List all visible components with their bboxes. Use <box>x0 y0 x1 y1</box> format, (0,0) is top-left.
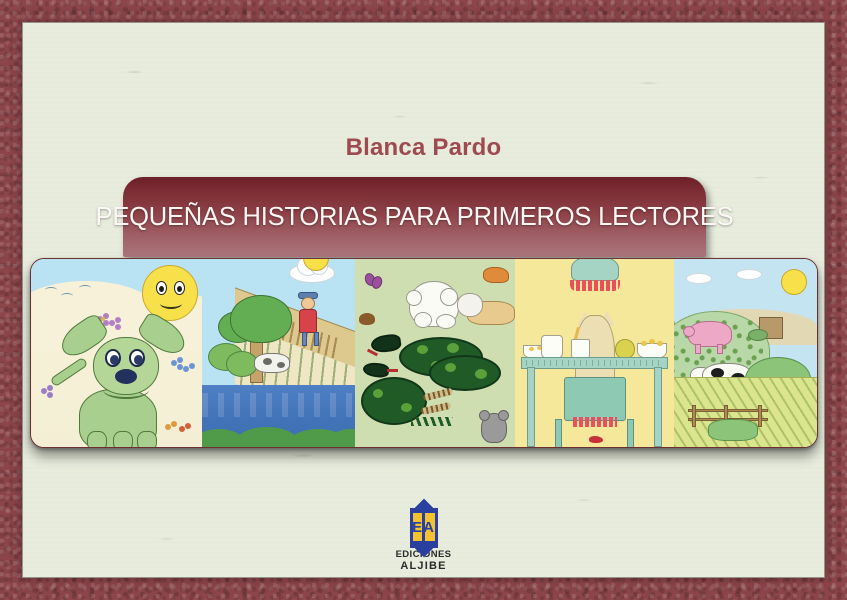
chair-leg <box>627 419 634 447</box>
illustration-panel-green-dog-and-sun <box>31 259 202 447</box>
sun-icon <box>781 269 807 295</box>
chair-back <box>564 377 626 421</box>
dog-eye-left <box>105 349 121 367</box>
title-banner: PEQUEÑAS HISTORIAS PARA PRIMEROS LECTORE… <box>123 177 706 257</box>
flower-icon <box>165 421 178 434</box>
dog-leg <box>87 431 107 447</box>
flower-icon <box>41 385 54 398</box>
farmer-leg <box>302 332 307 346</box>
mouse-figure <box>481 413 507 443</box>
book-title: PEQUEÑAS HISTORIAS PARA PRIMEROS LECTORE… <box>96 203 734 232</box>
fruit-piece <box>641 341 647 346</box>
table-leg <box>527 367 535 447</box>
pig-figure <box>688 321 732 347</box>
caterpillar-icon <box>423 387 454 401</box>
snake-head-lower <box>363 362 390 379</box>
illustration-panel-green-snakes <box>355 259 515 447</box>
poodle-dog <box>409 281 459 327</box>
cat-head <box>457 293 483 317</box>
bush-icon <box>226 351 258 377</box>
farmer-leg <box>314 332 319 346</box>
fox-icon <box>483 267 509 283</box>
chair-leg <box>555 419 562 447</box>
aljibe-logo-mark: EA <box>405 508 443 548</box>
snake-coil <box>429 355 501 391</box>
farmer-body <box>299 309 317 333</box>
small-snake-icon <box>411 417 453 426</box>
table-top <box>521 357 669 369</box>
dog-mouth <box>103 381 149 399</box>
illustration-panel-cat-at-the-table <box>515 259 675 447</box>
snake-head-upper <box>370 333 402 354</box>
tree-foliage <box>230 295 292 343</box>
shoe-icon <box>589 436 603 443</box>
publisher-logo: EA EDICIONES ALJIBE <box>22 508 825 572</box>
bird-icon <box>61 293 73 299</box>
butterfly-icon <box>365 273 383 291</box>
bird-icon <box>359 313 375 325</box>
bird-icon <box>45 287 57 293</box>
table-leg <box>654 367 662 447</box>
snake-tongue <box>387 369 398 372</box>
dog-tail <box>50 357 89 388</box>
illustration-panel-countryside-farmer-and-cow <box>202 259 356 447</box>
cloud-icon <box>686 273 712 284</box>
bird-icon <box>79 285 91 291</box>
flower-icon <box>179 423 192 436</box>
milk-jug <box>541 335 563 359</box>
book-cover: Blanca Pardo PEQUEÑAS HISTORIAS PARA PRI… <box>0 0 847 600</box>
dog-eye-right <box>129 349 145 367</box>
chair-skirt <box>573 417 617 427</box>
fruit-piece <box>657 341 663 346</box>
author-name: Blanca Pardo <box>22 134 825 162</box>
lampshade <box>571 259 619 281</box>
dog-leg <box>137 431 157 447</box>
fruit-piece <box>649 339 655 344</box>
lamp-fringe <box>570 280 620 291</box>
dog-leg <box>113 431 133 447</box>
publisher-imprint: ALJIBE <box>22 560 825 572</box>
flower-icon <box>109 317 122 330</box>
cover-paper-panel: Blanca Pardo PEQUEÑAS HISTORIAS PARA PRI… <box>22 22 825 578</box>
illustration-strip <box>30 258 818 448</box>
green-creature <box>708 419 758 441</box>
cereal-piece <box>529 347 534 351</box>
fruit-icon <box>615 339 635 359</box>
cloud-icon <box>736 269 762 280</box>
illustration-panel-farm-with-pig-and-cow <box>674 259 817 447</box>
logo-center-bar <box>422 511 425 545</box>
cow-figure <box>254 353 290 373</box>
flower-icon <box>183 363 196 376</box>
